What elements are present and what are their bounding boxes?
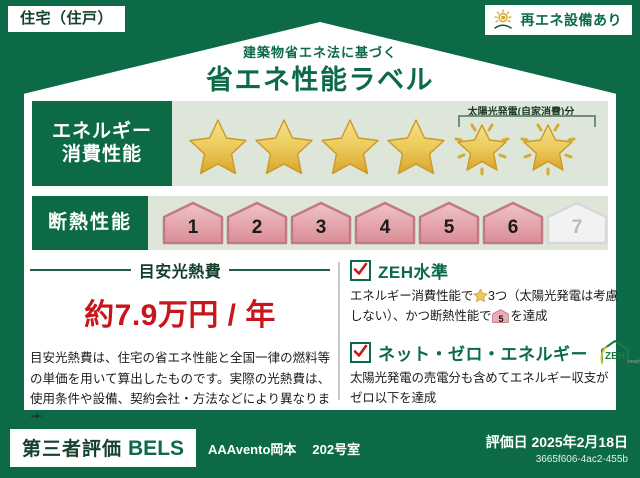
insulation-level-3: 3 [290,201,352,245]
heading-rule-left [30,269,131,271]
insulation-row-label-text: 断熱性能 [48,212,132,234]
energy-consumption-row: エネルギー 消費性能 太陽光発電(自家消費)分 [32,101,608,186]
mini-star-icon [473,288,488,303]
checkbox-checked-icon-2 [350,342,371,363]
mini-house-level-icon: 5 [492,309,509,323]
bels-jp-label: 第三者評価 [22,434,122,461]
bels-chip: 第三者評価 BELS [10,429,196,467]
energy-row-label-line1: エネルギー [52,121,152,143]
certificate-id: 3665f606-4ac2-455b [486,454,628,465]
renewable-badge-label: 再エネ設備あり [521,13,623,27]
netzero-title: ネット・ゼロ・エネルギー [378,340,588,365]
label-footer: 第三者評価 BELS AAAvento岡本 202号室 評価日 2025年2月1… [0,418,640,478]
svg-text:ZEH: ZEH [605,351,625,362]
insulation-level-7-num: 7 [572,217,583,245]
energy-row-body: 太陽光発電(自家消費)分 [172,101,608,186]
zeh-body-post: を達成 [510,309,547,323]
insulation-level-6-num: 6 [508,217,519,245]
room-number: 202号室 [312,439,360,458]
sun-icon [492,9,516,31]
insulation-performance-row: 断熱性能 1 2 3 4 5 6 7 [32,196,608,250]
insulation-level-5-num: 5 [444,217,455,245]
insulation-level-2-num: 2 [252,217,263,245]
utility-cost-heading-text: 目安光熱費 [139,258,222,282]
insulation-level-4-num: 4 [380,217,391,245]
svg-text:nearly: nearly [628,359,640,365]
energy-row-label: エネルギー 消費性能 [32,101,172,186]
zeh-body-pre: エネルギー消費性能で [350,289,473,303]
insulation-level-scale: 1 2 3 4 5 6 7 [148,201,608,245]
netzero-header: ネット・ゼロ・エネルギー ZEH nearly [350,339,618,365]
zeh-standard-body: エネルギー消費性能で3つ（太陽光発電は考慮しない）、かつ断熱性能で5を達成 [350,286,618,326]
heading-rule-right [229,269,330,271]
star-3 [318,116,382,178]
star-1 [186,116,250,178]
label-title: 省エネ性能ラベル [0,58,640,97]
evaluation-date: 評価日 2025年2月18日 [486,432,628,452]
insulation-level-1: 1 [162,201,224,245]
utility-cost-heading: 目安光熱費 [30,258,330,282]
building-name: AAAvento岡本 [208,439,296,458]
netzero-body: 太陽光発電の売電分も含めてエネルギー収支がゼロ以下を達成 [350,368,618,408]
criteria-section: ZEH水準 エネルギー消費性能で3つ（太陽光発電は考慮しない）、かつ断熱性能で5… [350,258,618,408]
insulation-level-1-num: 1 [188,217,199,245]
renewable-equipment-badge: 再エネ設備あり [485,5,633,35]
utility-cost-value: 約7.9万円 / 年 [30,290,330,334]
bels-en-label: BELS [128,437,184,461]
energy-performance-label: 住宅（住戸） 再エネ設備あり 建築物省エネ法に基づく 省エネ性能 [0,0,640,478]
star-2 [252,116,316,178]
utility-cost-section: 目安光熱費 約7.9万円 / 年 目安光熱費は、住宅の省エネ性能と全国一律の燃料… [30,258,330,431]
insulation-level-5: 5 [418,201,480,245]
insulation-level-4: 4 [354,201,416,245]
building-type-chip: 住宅（住戸） [8,6,125,32]
mini-house-level-num: 5 [492,309,509,326]
insulation-level-7: 7 [546,201,608,245]
netzero-section: ネット・ゼロ・エネルギー ZEH nearly 太陽光発電の売電分も含めてエネル… [350,339,618,408]
checkbox-checked-icon [350,260,371,281]
insulation-level-3-num: 3 [316,217,327,245]
star-4 [384,116,448,178]
energy-row-label-line2: 消費性能 [62,144,142,166]
zeh-logo-icon: ZEH nearly [595,339,640,365]
column-divider [338,262,340,400]
footer-right-meta: 評価日 2025年2月18日 3665f606-4ac2-455b [486,432,628,465]
zeh-standard-header: ZEH水準 [350,258,618,283]
insulation-level-2: 2 [226,201,288,245]
solar-portion-bracket [458,115,596,127]
insulation-row-label: 断熱性能 [32,196,148,250]
insulation-row-body: 1 2 3 4 5 6 7 [148,196,608,250]
zeh-standard-title: ZEH水準 [378,258,449,283]
insulation-level-6: 6 [482,201,544,245]
